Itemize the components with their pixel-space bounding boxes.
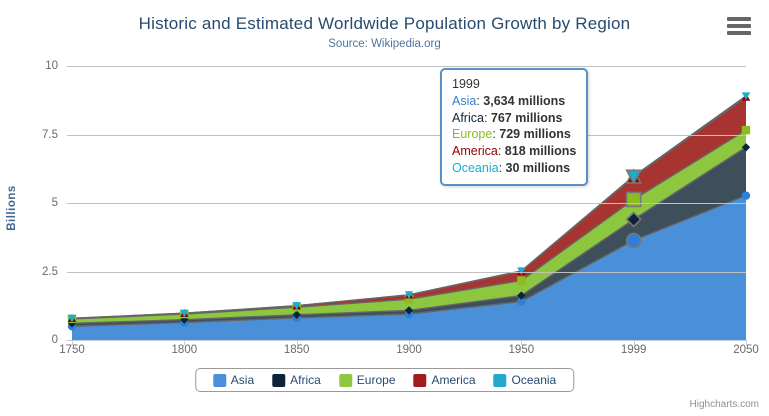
tooltip-series-name: Asia: [452, 94, 476, 108]
tooltip-separator: :: [499, 161, 506, 175]
tooltip-series-value: 3,634 millions: [483, 94, 565, 108]
y-axis-label: 2.5: [42, 266, 58, 278]
legend-item-europe[interactable]: Europe: [332, 373, 403, 387]
tooltip-header: 1999: [452, 77, 576, 91]
x-axis-label: 1850: [284, 344, 310, 356]
x-axis-label: 1900: [396, 344, 422, 356]
tooltip-rows: Asia: 3,634 millionsAfrica: 767 millions…: [452, 93, 576, 176]
x-axis-label: 2050: [733, 344, 759, 356]
x-axis-tick: [521, 340, 522, 345]
legend-swatch-icon: [339, 374, 352, 387]
legend-item-asia[interactable]: Asia: [206, 373, 261, 387]
credits-link[interactable]: Highcharts.com: [690, 399, 759, 410]
chart-legend: AsiaAfricaEuropeAmericaOceania: [195, 368, 574, 392]
highcharts-container: Historic and Estimated Worldwide Populat…: [0, 0, 769, 416]
x-axis-tick: [746, 340, 747, 345]
legend-label: Asia: [231, 373, 254, 387]
x-axis-label: 1999: [621, 344, 647, 356]
y-gridline: [72, 135, 746, 136]
plot-area: 02.557.510: [72, 66, 746, 340]
legend-swatch-icon: [414, 374, 427, 387]
tooltip-row: Europe: 729 millions: [452, 126, 576, 143]
marker-asia[interactable]: [627, 233, 641, 247]
legend-swatch-icon: [272, 374, 285, 387]
x-axis-tick: [297, 340, 298, 345]
x-axis-label: 1800: [172, 344, 198, 356]
tooltip-separator: :: [498, 144, 505, 158]
tooltip-series-name: Africa: [452, 111, 484, 125]
hamburger-bar: [727, 31, 751, 35]
page-title: Historic and Estimated Worldwide Populat…: [0, 14, 769, 34]
x-axis-tick: [72, 340, 73, 345]
hamburger-menu-icon[interactable]: [727, 17, 751, 37]
y-axis-label: 0: [52, 334, 58, 346]
marker-asia[interactable]: [742, 191, 750, 199]
y-axis-tick: [67, 272, 72, 273]
legend-swatch-icon: [213, 374, 226, 387]
legend-label: America: [432, 373, 476, 387]
tooltip-row: Asia: 3,634 millions: [452, 93, 576, 110]
legend-item-america[interactable]: America: [407, 373, 483, 387]
y-axis-tick: [67, 203, 72, 204]
tooltip-series-value: 729 millions: [499, 127, 571, 141]
y-axis-label: 5: [52, 197, 58, 209]
tooltip-series-value: 30 millions: [506, 161, 571, 175]
legend-label: Africa: [290, 373, 321, 387]
legend-label: Oceania: [512, 373, 557, 387]
tooltip-series-value: 767 millions: [491, 111, 563, 125]
tooltip-separator: :: [484, 111, 491, 125]
y-axis-label: 10: [45, 60, 58, 72]
y-axis-tick: [67, 135, 72, 136]
x-axis-tick: [634, 340, 635, 345]
hamburger-bar: [727, 17, 751, 21]
tooltip-row: America: 818 millions: [452, 143, 576, 160]
y-gridline: [72, 272, 746, 273]
x-axis-tick: [409, 340, 410, 345]
x-axis-tick: [184, 340, 185, 345]
tooltip-series-value: 818 millions: [505, 144, 577, 158]
tooltip-row: Africa: 767 millions: [452, 110, 576, 127]
y-axis-tick: [67, 66, 72, 67]
x-axis-label: 1950: [509, 344, 535, 356]
marker-europe[interactable]: [742, 126, 750, 134]
legend-item-oceania[interactable]: Oceania: [487, 373, 564, 387]
x-axis-label: 1750: [59, 344, 85, 356]
chart-subtitle: Source: Wikipedia.org: [0, 38, 769, 50]
marker-europe[interactable]: [517, 276, 525, 284]
tooltip-series-name: America: [452, 144, 498, 158]
y-gridline: [72, 203, 746, 204]
legend-item-africa[interactable]: Africa: [265, 373, 328, 387]
y-axis-label: 7.5: [42, 129, 58, 141]
legend-label: Europe: [357, 373, 396, 387]
tooltip-series-name: Europe: [452, 127, 492, 141]
tooltip-series-name: Oceania: [452, 161, 499, 175]
hamburger-bar: [727, 24, 751, 28]
tooltip: 1999 Asia: 3,634 millionsAfrica: 767 mil…: [440, 68, 588, 186]
marker-europe[interactable]: [627, 192, 641, 206]
y-gridline: [72, 66, 746, 67]
tooltip-row: Oceania: 30 millions: [452, 160, 576, 177]
y-axis-title: Billions: [6, 185, 18, 231]
legend-swatch-icon: [494, 374, 507, 387]
